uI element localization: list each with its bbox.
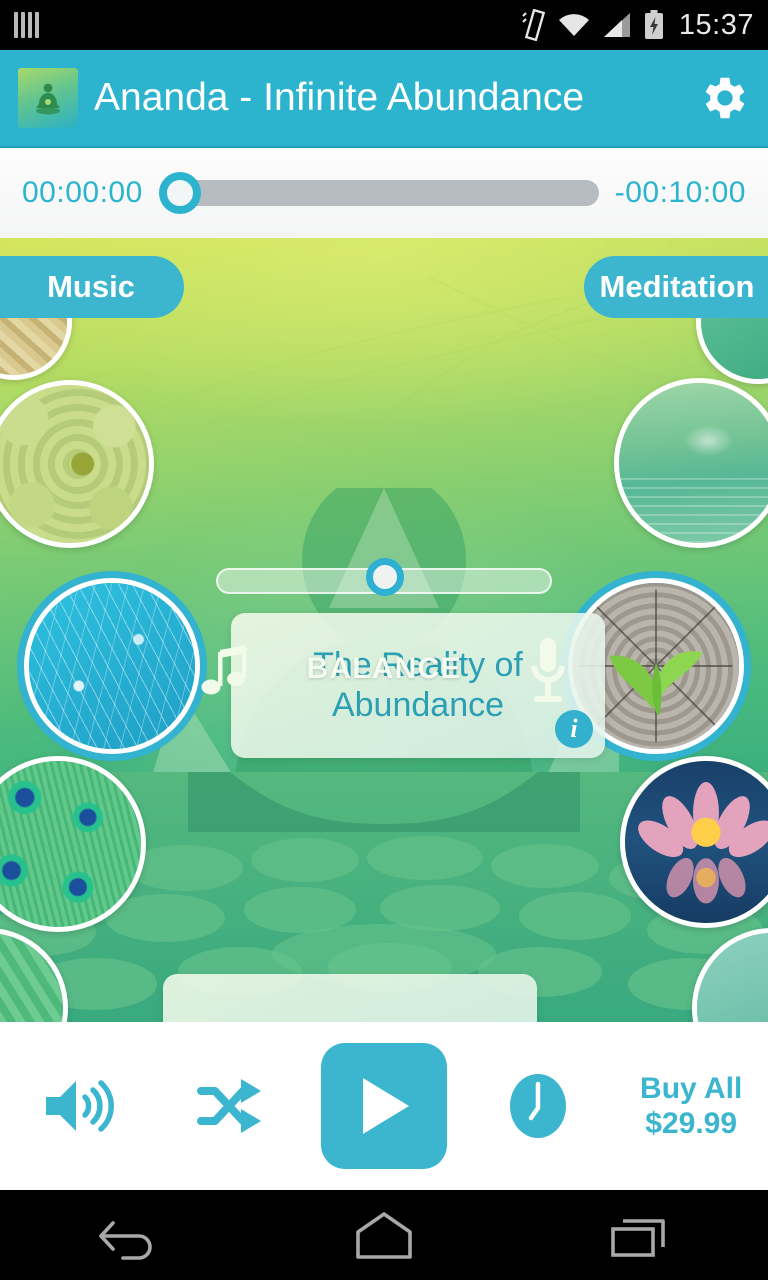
sleep-timer-button[interactable]	[461, 1022, 615, 1190]
app-root: 15:37 Ananda - Infinite Abundance 00:00:…	[0, 0, 768, 1280]
seek-track[interactable]	[177, 180, 599, 206]
back-icon	[93, 1205, 163, 1265]
buy-all-label: Buy All	[640, 1071, 742, 1106]
track-card-bottom[interactable]: Pure Potentiality i	[163, 974, 537, 1022]
home-icon	[344, 1205, 424, 1265]
status-bar-clock: 15:37	[679, 9, 754, 42]
menu-lines-icon	[14, 12, 39, 38]
meditating-buddha-app-icon	[18, 68, 78, 128]
gear-icon[interactable]	[696, 71, 750, 125]
balance-label: BALANCE	[0, 652, 768, 686]
tab-meditation-label: Meditation	[600, 269, 755, 305]
shuffle-button[interactable]	[154, 1022, 308, 1190]
thumb-green-cells[interactable]	[0, 380, 154, 548]
play-button[interactable]	[307, 1022, 461, 1190]
info-icon[interactable]: i	[555, 710, 593, 748]
android-nav-bar	[0, 1190, 768, 1280]
thumb-water-partial[interactable]	[692, 928, 768, 1022]
buddha-glyph-icon	[33, 82, 63, 116]
player-toolbar: Buy All $29.99	[0, 1022, 768, 1190]
thumb-peacock-feather[interactable]	[0, 756, 146, 932]
buy-all-button[interactable]: Buy All $29.99	[614, 1022, 768, 1190]
action-bar: Ananda - Infinite Abundance	[0, 50, 768, 146]
remaining-time: -00:10:00	[615, 176, 746, 210]
play-icon	[353, 1072, 415, 1140]
status-bar: 15:37	[0, 0, 768, 50]
elapsed-time: 00:00:00	[22, 176, 143, 210]
buy-all-price: $29.99	[640, 1106, 742, 1141]
player-progress-row: 00:00:00 -00:10:00	[0, 146, 768, 238]
signal-icon	[602, 11, 632, 39]
seek-thumb[interactable]	[159, 172, 201, 214]
nav-home-button[interactable]	[256, 1205, 512, 1265]
volume-icon	[40, 1075, 114, 1137]
wifi-icon	[557, 11, 591, 39]
volume-button[interactable]	[0, 1022, 154, 1190]
vibrate-icon	[520, 9, 546, 41]
clock-icon	[500, 1068, 576, 1144]
balance-thumb[interactable]	[366, 558, 404, 596]
seek-bar[interactable]	[159, 173, 599, 213]
shuffle-icon	[195, 1075, 265, 1137]
thumb-leaf-partial[interactable]	[0, 928, 68, 1022]
tab-meditation[interactable]: Meditation	[584, 256, 768, 318]
player-stage: Music Meditation The Reality of Abundanc…	[0, 238, 768, 1022]
tab-music[interactable]: Music	[0, 256, 184, 318]
lotus-glyph	[625, 761, 768, 923]
thumb-water-dew[interactable]	[614, 378, 768, 548]
nav-back-button[interactable]	[0, 1205, 256, 1265]
battery-charging-icon	[643, 9, 665, 41]
nav-recents-button[interactable]	[512, 1205, 768, 1265]
tab-music-label: Music	[47, 269, 135, 305]
recents-icon	[603, 1205, 677, 1265]
page-title: Ananda - Infinite Abundance	[94, 76, 696, 120]
thumb-lotus-flower[interactable]	[620, 756, 768, 928]
